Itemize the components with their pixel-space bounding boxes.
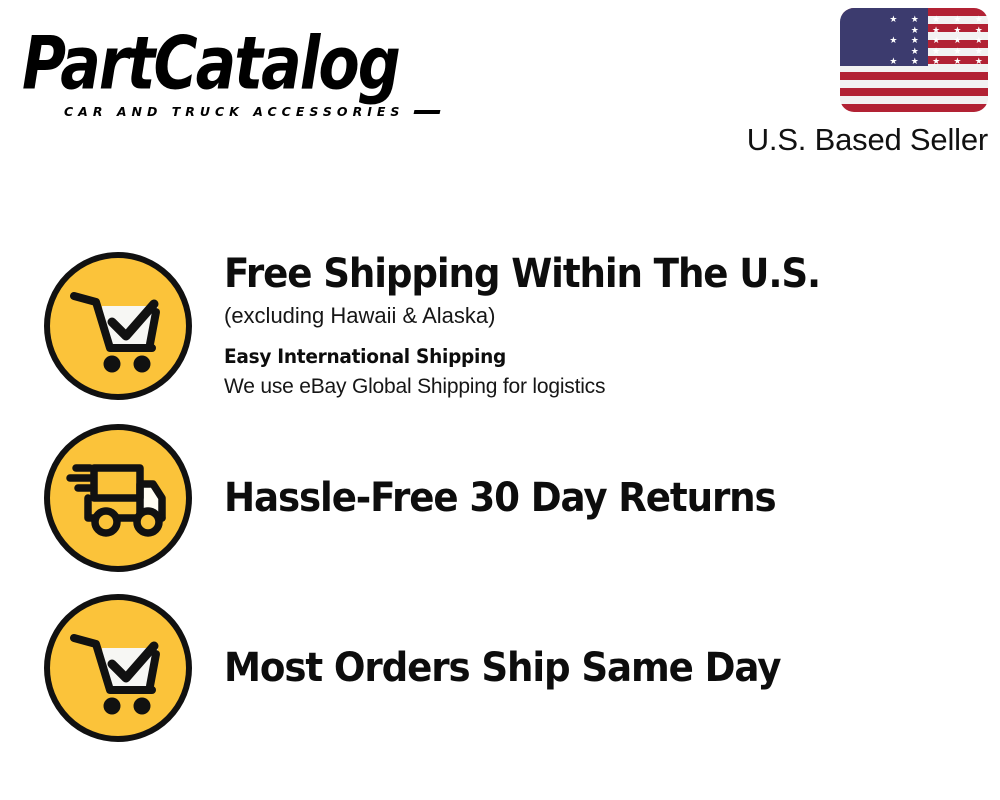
feature-title: Hassle-Free 30 Day Returns <box>224 475 923 521</box>
feature-row: Hassle-Free 30 Day Returns <box>0 420 1000 576</box>
feature-text-block: Most Orders Ship Same Day <box>224 645 1000 691</box>
tagline-rule-decoration <box>414 110 441 114</box>
us-based-seller-label: U.S. Based Seller <box>712 123 988 157</box>
us-flag-icon: ★ ★ ★ ★ ★ ★ ★ ★ ★ ★ ★ ★ ★ ★ ★ ★ ★ ★ ★ ★ … <box>840 8 988 112</box>
brand-tagline-row: CAR AND TRUCK ACCESSORIES <box>22 104 492 119</box>
feature-title: Most Orders Ship Same Day <box>224 645 923 691</box>
flag-stars: ★ ★ ★ ★ ★ ★ ★ ★ ★ ★ ★ ★ ★ ★ ★ ★ ★ ★ ★ ★ … <box>840 8 988 112</box>
feature-sub-note: We use eBay Global Shipping for logistic… <box>224 372 976 401</box>
brand-logo[interactable]: PartCatalog CAR AND TRUCK ACCESSORIES <box>22 26 492 119</box>
feature-row: Free Shipping Within The U.S. (excluding… <box>0 248 1000 404</box>
brand-wordmark: PartCatalog <box>22 26 478 102</box>
shopping-cart-check-icon <box>44 594 192 742</box>
feature-text-block: Hassle-Free 30 Day Returns <box>224 475 1000 521</box>
feature-sub-title: Easy International Shipping <box>224 343 938 371</box>
feature-title: Free Shipping Within The U.S. <box>224 251 923 297</box>
page-header: PartCatalog CAR AND TRUCK ACCESSORIES <box>0 0 1000 170</box>
feature-row: Most Orders Ship Same Day <box>0 590 1000 746</box>
delivery-truck-icon <box>44 424 192 572</box>
shopping-cart-check-icon <box>44 252 192 400</box>
us-based-seller-badge: ★ ★ ★ ★ ★ ★ ★ ★ ★ ★ ★ ★ ★ ★ ★ ★ ★ ★ ★ ★ … <box>712 8 988 157</box>
feature-text-block: Free Shipping Within The U.S. (excluding… <box>224 251 1000 401</box>
brand-tagline-text: CAR AND TRUCK ACCESSORIES <box>64 104 404 119</box>
feature-note: (excluding Hawaii & Alaska) <box>224 301 976 331</box>
